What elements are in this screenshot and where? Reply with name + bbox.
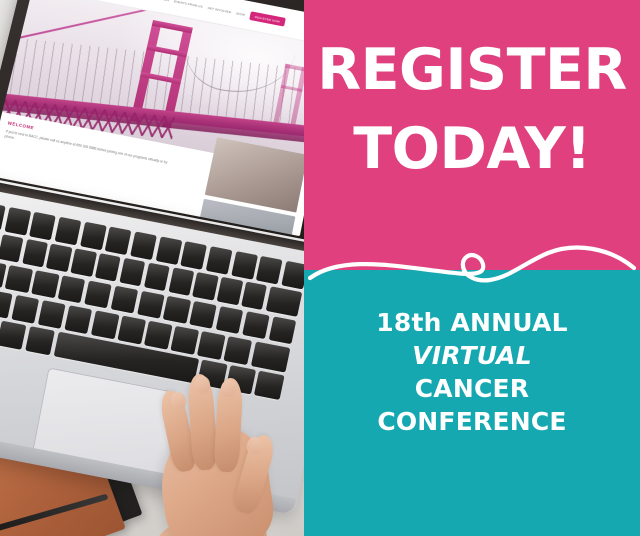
key: [268, 316, 296, 345]
poster-canvas: BACC Bay Area Cancer Connections HOME AB…: [0, 0, 640, 536]
key: [217, 277, 243, 305]
key: [206, 246, 233, 274]
nav-donate-button[interactable]: REGISTER NOW: [249, 11, 286, 26]
key: [118, 315, 146, 344]
key: [197, 331, 225, 360]
key: [91, 310, 119, 339]
key: [242, 311, 270, 340]
headline: REGISTER TODAY!: [304, 42, 640, 178]
key: [0, 321, 27, 350]
key: [256, 256, 283, 284]
key: [144, 263, 170, 291]
nav-item-get-involved[interactable]: GET INVOLVED: [207, 5, 231, 13]
key-backspace: [266, 287, 303, 317]
key: [130, 231, 157, 259]
key: [241, 282, 267, 310]
key: [80, 222, 107, 250]
fingernail: [221, 380, 237, 398]
key: [137, 290, 165, 319]
conference-line-1: 18th ANNUAL: [304, 306, 640, 339]
key: [180, 241, 207, 269]
key: [168, 268, 194, 296]
conference-line-4: CONFERENCE: [304, 405, 640, 438]
key: [4, 207, 31, 235]
key: [5, 265, 33, 294]
key: [171, 326, 199, 355]
key: [11, 295, 39, 324]
nav-item-shop[interactable]: SHOP: [236, 11, 246, 17]
key: [64, 305, 92, 334]
conference-line-2: VIRTUAL: [304, 339, 640, 372]
nav-item-help-support[interactable]: HELP & SUPPORT SERVICES: [124, 0, 170, 2]
fingernail: [194, 375, 210, 393]
key: [29, 212, 56, 240]
key: [144, 321, 172, 350]
key: [22, 239, 48, 267]
hand-on-laptop: [150, 368, 304, 536]
key: [216, 306, 244, 335]
key: [192, 272, 218, 300]
key: [31, 270, 59, 299]
key: [58, 275, 86, 304]
text-panel: REGISTER TODAY! 18th ANNUAL VIRTUAL CANC…: [304, 0, 640, 536]
conference-line-3: CANCER: [304, 372, 640, 405]
key: [119, 258, 145, 286]
nav-item-events[interactable]: EVENTS FROM US: [174, 0, 204, 8]
key: [55, 217, 82, 245]
key: [110, 285, 138, 314]
key: [224, 336, 252, 365]
key: [155, 236, 182, 264]
key: [163, 295, 191, 324]
headline-line-1: REGISTER: [317, 37, 627, 103]
headline-line-2: TODAY!: [304, 121, 640, 178]
key: [25, 326, 55, 355]
key: [46, 244, 72, 272]
key: [71, 249, 97, 277]
photo-panel: BACC Bay Area Cancer Connections HOME AB…: [0, 0, 304, 536]
key: [281, 261, 304, 289]
key: [0, 234, 24, 262]
conference-title: 18th ANNUAL VIRTUAL CANCER CONFERENCE: [304, 306, 640, 438]
key: [105, 227, 132, 255]
key: [189, 301, 217, 330]
key: [84, 280, 112, 309]
key: [38, 300, 66, 329]
key: [231, 251, 258, 279]
key: [95, 253, 121, 281]
